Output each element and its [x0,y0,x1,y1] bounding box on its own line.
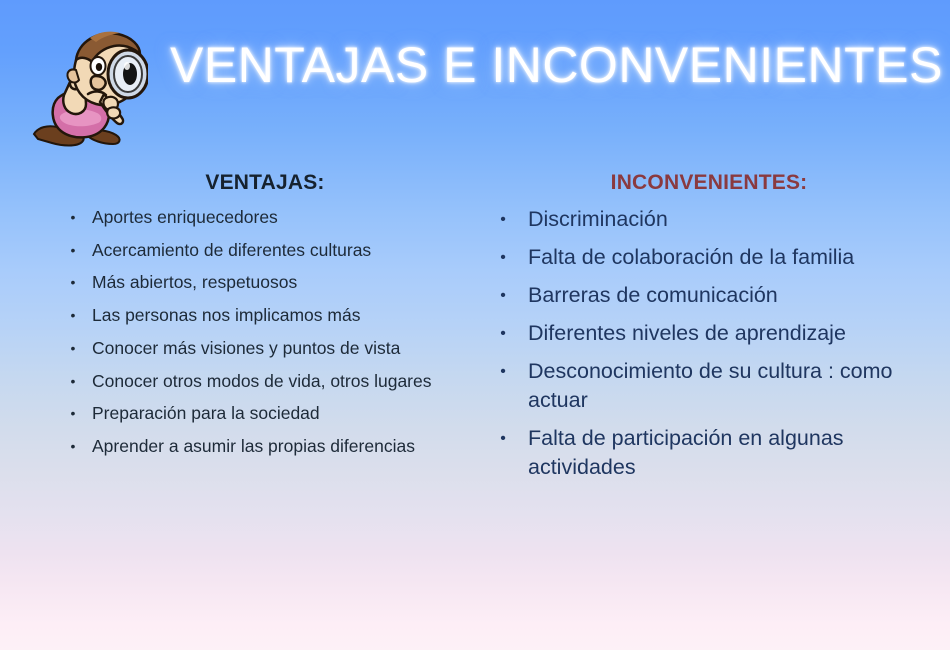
list-item-label: Más abiertos, respetuosos [92,270,480,294]
list-item: • Aprender a asumir las propias diferenc… [60,434,480,458]
list-item: • Conocer otros modos de vida, otros lug… [60,369,480,393]
list-item-label: Falta de participación en algunas activi… [528,424,928,482]
list-item: • Falta de colaboración de la familia [490,243,928,272]
bullet-icon: • [68,369,78,393]
disadvantages-list: • Discriminación • Falta de colaboración… [490,205,928,482]
content-columns: VENTAJAS: • Aportes enriquecedores • Ace… [0,160,950,650]
advantages-column: VENTAJAS: • Aportes enriquecedores • Ace… [40,160,480,467]
list-item: • Conocer más visiones y puntos de vista [60,336,480,360]
disadvantages-column: INCONVENIENTES: • Discriminación • Falta… [478,160,928,491]
list-item-label: Preparación para la sociedad [92,401,480,425]
list-item-label: Falta de colaboración de la familia [528,243,928,272]
detective-magnifying-glass-icon [18,22,148,152]
bullet-icon: • [68,238,78,262]
bullet-icon: • [68,434,78,458]
bullet-icon: • [498,243,508,272]
list-item-label: Acercamiento de diferentes culturas [92,238,480,262]
list-item: • Falta de participación en algunas acti… [490,424,928,482]
list-item: • Acercamiento de diferentes culturas [60,238,480,262]
list-item: • Las personas nos implicamos más [60,303,480,327]
page-title: VENTAJAS E INCONVENIENTES [170,36,943,94]
list-item: • Aportes enriquecedores [60,205,480,229]
list-item: • Diferentes niveles de aprendizaje [490,319,928,348]
list-item: • Más abiertos, respetuosos [60,270,480,294]
bullet-icon: • [498,357,508,386]
list-item-label: Las personas nos implicamos más [92,303,480,327]
list-item-label: Desconocimiento de su cultura : como act… [528,357,928,415]
list-item-label: Aportes enriquecedores [92,205,480,229]
bullet-icon: • [68,270,78,294]
bullet-icon: • [498,281,508,310]
list-item: • Preparación para la sociedad [60,401,480,425]
list-item: • Discriminación [490,205,928,234]
bullet-icon: • [68,401,78,425]
bullet-icon: • [498,205,508,234]
list-item-label: Aprender a asumir las propias diferencia… [92,434,480,458]
bullet-icon: • [68,336,78,360]
presentation-slide: VENTAJAS E INCONVENIENTES VENTAJAS: • Ap… [0,0,950,650]
list-item-label: Barreras de comunicación [528,281,928,310]
bullet-icon: • [68,205,78,229]
list-item-label: Conocer otros modos de vida, otros lugar… [92,369,480,393]
bullet-icon: • [68,303,78,327]
slide-header: VENTAJAS E INCONVENIENTES [0,0,950,160]
advantages-heading: VENTAJAS: [40,160,480,195]
list-item-label: Discriminación [528,205,928,234]
bullet-icon: • [498,424,508,453]
list-item-label: Conocer más visiones y puntos de vista [92,336,480,360]
advantages-list: • Aportes enriquecedores • Acercamiento … [60,205,480,458]
list-item: • Barreras de comunicación [490,281,928,310]
list-item: • Desconocimiento de su cultura : como a… [490,357,928,415]
disadvantages-heading: INCONVENIENTES: [478,160,928,195]
list-item-label: Diferentes niveles de aprendizaje [528,319,928,348]
bullet-icon: • [498,319,508,348]
